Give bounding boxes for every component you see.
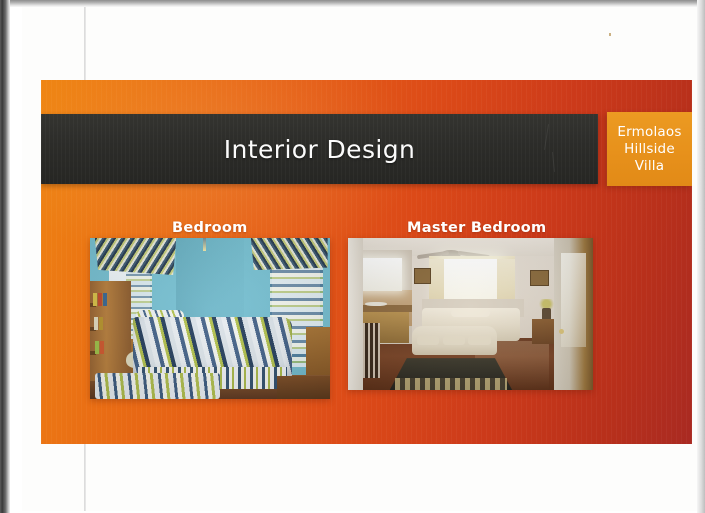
master-door-knob: [559, 329, 564, 334]
paper-speck: [609, 33, 611, 36]
accent-badge-line-1: Ermolaos: [617, 124, 681, 141]
accent-badge-property-name: Ermolaos Hillside Villa: [607, 112, 692, 186]
photo-caption-master-bedroom: Master Bedroom: [407, 220, 546, 236]
master-vanity-counter: [355, 305, 411, 313]
bedroom-ceiling-bulb: [203, 238, 206, 251]
master-doorframe-left: [348, 238, 363, 390]
accent-badge-line-2: Hillside: [624, 141, 675, 158]
photo-master-bedroom: [348, 238, 593, 390]
sofa-cushion: [443, 336, 465, 345]
scanner-edge-left: [0, 0, 10, 513]
bedroom-bookshelf: [90, 281, 131, 381]
bedroom-table-foreground: [277, 376, 330, 399]
slide-title: Interior Design: [224, 135, 415, 164]
sofa-cushion: [417, 336, 439, 345]
scanner-edge-top: [0, 0, 705, 7]
bedroom-valance-left: [95, 238, 177, 275]
bedroom-dresser: [306, 327, 330, 375]
photo-caption-bedroom: Bedroom: [172, 220, 248, 236]
bookshelf-book: [93, 293, 97, 306]
scanner-edge-right: [697, 0, 705, 513]
bookshelf-book: [98, 293, 102, 306]
title-banner: Interior Design: [41, 114, 598, 184]
accent-badge-line-3: Villa: [635, 158, 664, 175]
sofa-cushion: [468, 336, 490, 345]
bookshelf-book: [95, 341, 99, 354]
master-wall-picture-right: [530, 270, 549, 286]
bookshelf-book: [100, 341, 104, 354]
master-window-left: [360, 258, 402, 291]
banner-scuff: [552, 152, 555, 172]
banner-scuff: [544, 124, 549, 150]
bedroom-valance-right: [251, 238, 328, 270]
presentation-slide: Interior Design Ermolaos Hillside Villa …: [41, 80, 692, 444]
photo-bedroom: [90, 238, 330, 399]
bookshelf-book: [103, 293, 107, 306]
bookshelf-book: [99, 317, 103, 330]
scanned-page-canvas: Interior Design Ermolaos Hillside Villa …: [0, 0, 705, 513]
bedroom-second-bed: [95, 373, 220, 399]
master-rug-border-pattern: [395, 378, 508, 390]
master-bench-sofa: [412, 326, 498, 355]
bookshelf-book: [94, 317, 98, 330]
master-bed-bolster-pillow: [451, 309, 490, 317]
master-door-glass-panel: [561, 253, 586, 347]
master-wall-picture-left: [414, 268, 431, 284]
